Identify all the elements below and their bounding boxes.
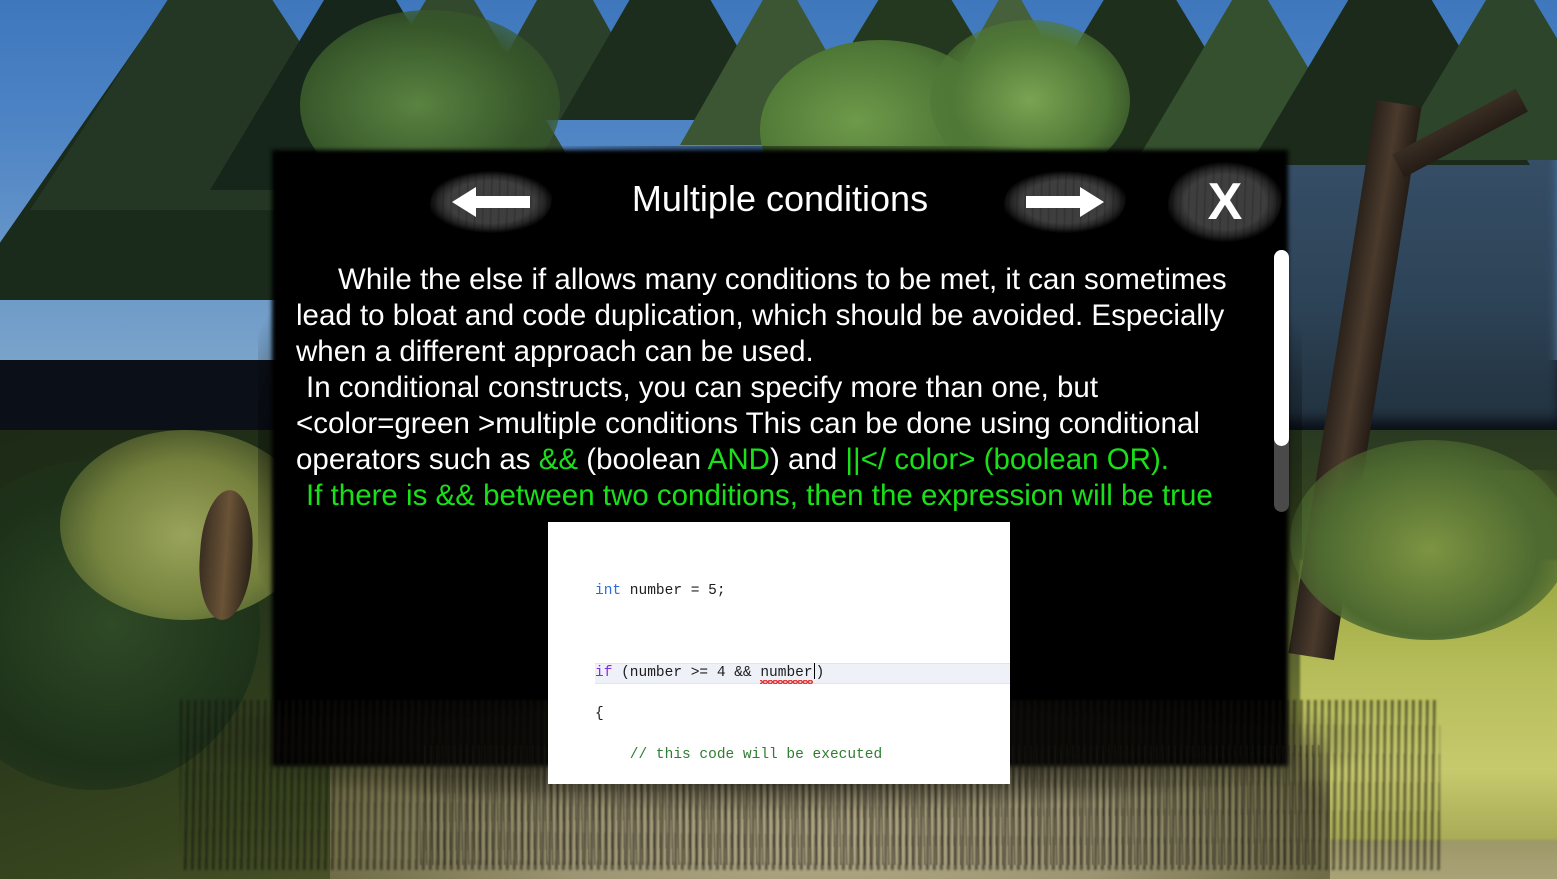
code-comment-1: // this code will be executed — [595, 747, 882, 763]
vertical-scrollbar[interactable] — [1274, 250, 1289, 512]
code-line: int number = 5; — [595, 581, 1010, 602]
lesson-p2-part3: ) and — [770, 443, 845, 476]
code-keyword-int: int — [595, 583, 621, 599]
previous-page-button[interactable] — [430, 168, 552, 236]
lesson-p2-part2: (boolean — [578, 443, 708, 476]
lesson-paragraph-2: In conditional constructs, you can speci… — [296, 370, 1241, 478]
close-button[interactable]: X — [1168, 158, 1282, 246]
code-line: // this code will be executed — [595, 745, 1010, 766]
code-line: { — [595, 704, 1010, 725]
code-line-1-rest: number = 5; — [621, 583, 725, 599]
scrollbar-thumb[interactable] — [1274, 250, 1289, 446]
arrow-right-icon — [1026, 185, 1104, 219]
code-blank-line — [595, 622, 1010, 643]
lesson-paragraph-3: If there is && between two conditions, t… — [296, 478, 1241, 514]
code-keyword-if: if — [595, 665, 612, 681]
lesson-body: While the else if allows many conditions… — [296, 262, 1241, 514]
code-line-2-rest: (number >= 4 && — [612, 665, 760, 681]
operator-and-symbol: && — [539, 443, 578, 476]
lesson-paragraph-1: While the else if allows many conditions… — [296, 262, 1241, 370]
code-sample-box[interactable]: int number = 5; if (number >= 4 && numbe… — [548, 522, 1010, 784]
code-line-3: { — [595, 706, 604, 722]
text-caret — [814, 663, 815, 679]
page-title: Multiple conditions — [560, 178, 1000, 220]
operator-or-symbol: ||</ color> (boolean OR). — [845, 443, 1169, 476]
code-line-highlighted[interactable]: if (number >= 4 && number) — [595, 663, 1010, 684]
arrow-left-icon — [452, 185, 530, 219]
boolean-and-word: AND — [708, 443, 770, 476]
code-error-token: number — [760, 665, 812, 681]
code-line-2-tail: ) — [816, 665, 825, 681]
close-icon: X — [1208, 176, 1243, 228]
code-sample-content: int number = 5; if (number >= 4 && numbe… — [548, 522, 1010, 784]
next-page-button[interactable] — [1004, 168, 1126, 236]
